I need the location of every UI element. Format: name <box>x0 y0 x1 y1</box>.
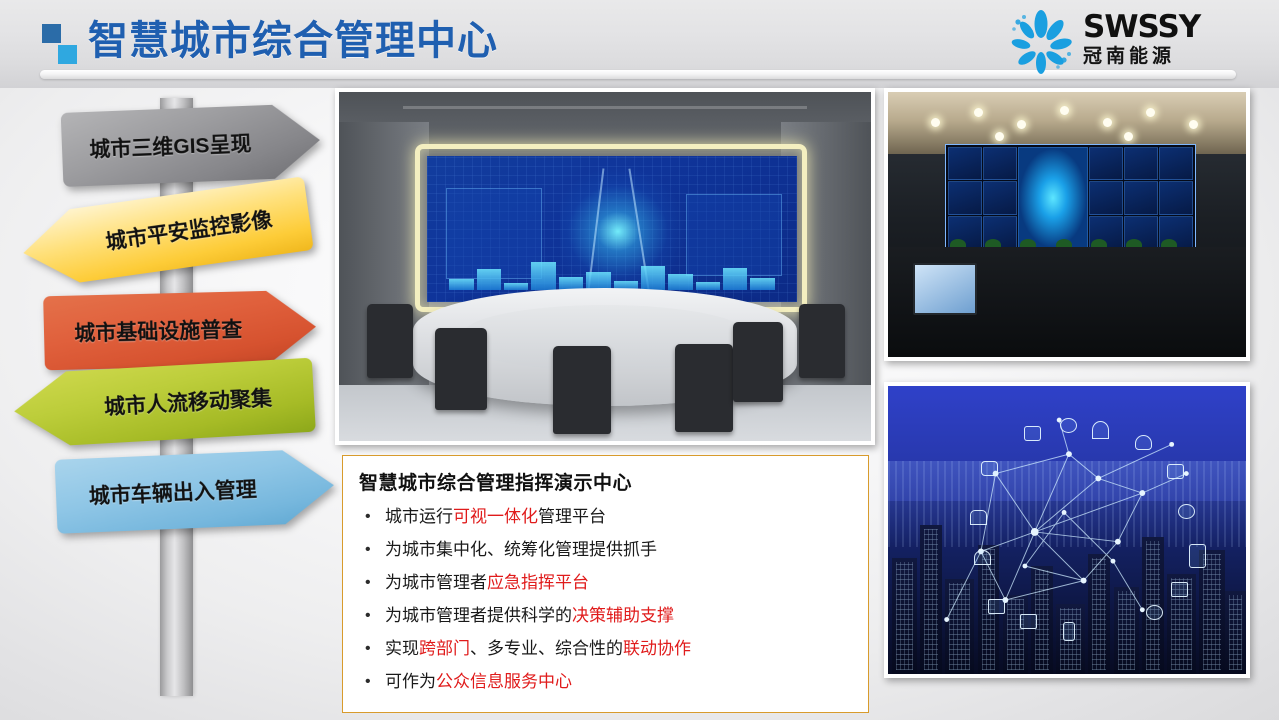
sign-label: 城市三维GIS呈现 <box>62 127 280 165</box>
brand-name: SWSSY <box>1083 10 1200 44</box>
sign-label: 城市基础设施普查 <box>44 313 273 349</box>
photo-command-room-main <box>335 88 875 445</box>
bullet-item: 实现跨部门、多专业、综合性的联动协作 <box>359 632 852 665</box>
photo-smart-city-network <box>884 382 1250 678</box>
screen-icon <box>1020 614 1037 629</box>
bullet-highlight: 应急指挥平台 <box>487 573 589 592</box>
description-card: 智慧城市综合管理指挥演示中心 城市运行可视一体化管理平台为城市集中化、统筹化管理… <box>342 455 869 713</box>
phone-icon <box>1063 622 1075 641</box>
sign-label: 城市人流移动聚集 <box>61 380 314 424</box>
ceiling-lights <box>888 102 1246 148</box>
cart-icon <box>981 461 998 476</box>
home-icon <box>970 510 987 525</box>
bullet-highlight: 公众信息服务中心 <box>436 672 572 691</box>
brand-logo: SWSSY 冠南能源 <box>1005 6 1255 78</box>
slide-header: 智慧城市综合管理中心 <box>0 0 1279 88</box>
bullet-highlight: 可视一体化 <box>453 507 538 526</box>
camera-icon <box>1171 582 1188 597</box>
sign-city-crowd-movement[interactable]: 城市人流移动聚集 <box>12 358 316 449</box>
sign-label: 城市平安监控影像 <box>67 198 311 261</box>
chair <box>799 304 845 378</box>
square-dark-icon <box>42 24 61 43</box>
bullet-text: 城市运行 <box>385 507 453 526</box>
bullet-text: 可作为 <box>385 672 436 691</box>
sign-city-infrastructure-survey[interactable]: 城市基础设施普查 <box>43 290 317 371</box>
bullet-highlight: 联动协作 <box>623 639 691 658</box>
bulb-icon <box>1146 605 1163 620</box>
brand-subtitle: 冠南能源 <box>1083 44 1200 70</box>
chair <box>733 322 783 402</box>
bullet-item: 为城市管理者提供科学的决策辅助支撑 <box>359 599 852 632</box>
sign-city-vehicle-access[interactable]: 城市车辆出入管理 <box>55 448 336 534</box>
page-title: 智慧城市综合管理中心 <box>88 8 498 66</box>
bullet-item: 为城市管理者应急指挥平台 <box>359 566 852 599</box>
signpost-group: 城市三维GIS呈现 城市平安监控影像 城市基础设施普查 城市人流移动聚集 城市车… <box>0 88 340 720</box>
bullet-list: 城市运行可视一体化管理平台为城市集中化、统筹化管理提供抓手为城市管理者应急指挥平… <box>359 500 852 698</box>
title-decoration-squares <box>42 24 80 66</box>
slide-canvas: 智慧城市综合管理中心 <box>0 0 1279 720</box>
card-title: 智慧城市综合管理指挥演示中心 <box>359 468 852 495</box>
tower-icon <box>1092 421 1109 439</box>
bullet-item: 城市运行可视一体化管理平台 <box>359 500 852 533</box>
car-icon <box>1135 435 1152 450</box>
sign-city-3d-gis[interactable]: 城市三维GIS呈现 <box>61 103 322 187</box>
bullet-text: 管理平台 <box>538 507 606 526</box>
square-light-icon <box>58 45 77 64</box>
swssy-flower-icon <box>1005 8 1077 76</box>
chair <box>675 344 733 432</box>
bullet-highlight: 决策辅助支撑 <box>572 606 674 625</box>
bullet-item: 可作为公众信息服务中心 <box>359 665 852 698</box>
video-wall-display <box>427 156 797 302</box>
bullet-item: 为城市集中化、统筹化管理提供抓手 <box>359 533 852 566</box>
brand-text: SWSSY 冠南能源 <box>1083 10 1200 70</box>
bullet-text: 、多专业、综合性的 <box>470 639 623 658</box>
photo-dispatch-control-room <box>884 88 1250 361</box>
bullet-text: 为城市集中化、统筹化管理提供抓手 <box>385 540 657 559</box>
sign-label: 城市车辆出入管理 <box>55 472 290 512</box>
cloud-car-icon <box>1178 504 1195 519</box>
chair <box>367 304 413 378</box>
antenna-icon <box>974 550 991 565</box>
chair <box>553 346 611 434</box>
person-icon <box>1060 418 1077 433</box>
bullet-text: 实现 <box>385 639 419 658</box>
bullet-highlight: 跨部门 <box>419 639 470 658</box>
bullet-text: 为城市管理者 <box>385 573 487 592</box>
bullet-text: 为城市管理者提供科学的 <box>385 606 572 625</box>
building-icon <box>1024 426 1041 441</box>
server-icon <box>1189 544 1206 568</box>
train-icon <box>1167 464 1184 479</box>
laptop-icon <box>988 599 1005 614</box>
operator-monitor <box>913 263 977 315</box>
chair <box>435 328 487 410</box>
led-video-wall <box>945 144 1196 252</box>
